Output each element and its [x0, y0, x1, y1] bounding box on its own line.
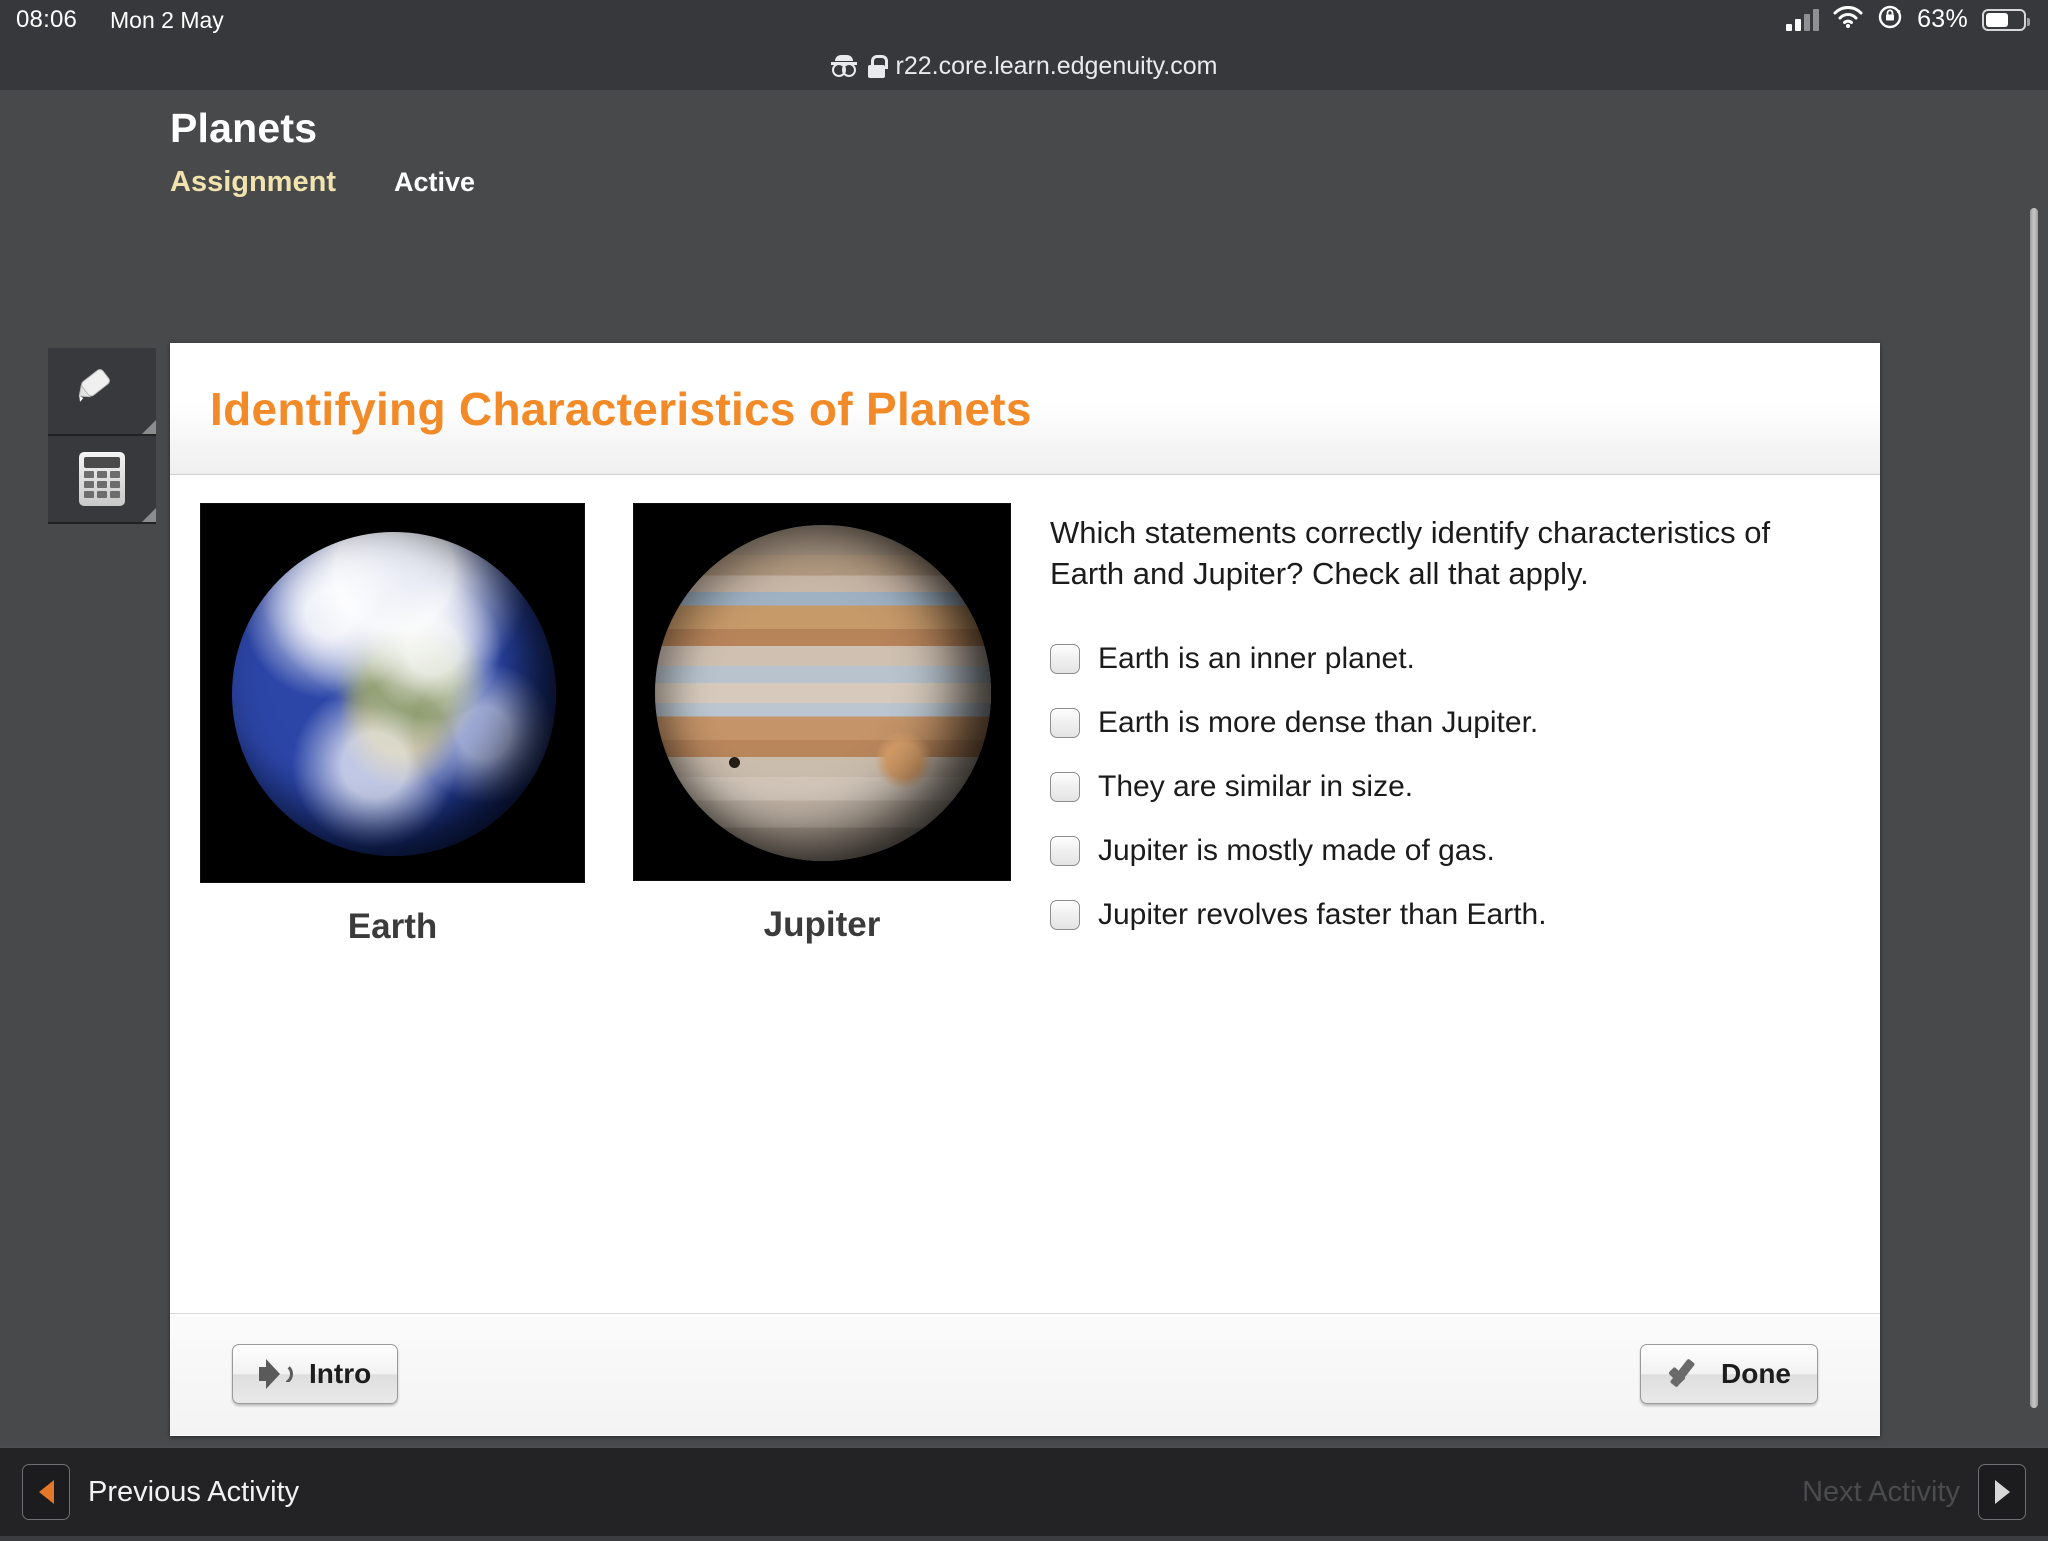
ipad-status-bar: 08:06 Mon 2 May 63%: [0, 0, 2048, 42]
option-label: Jupiter revolves faster than Earth.: [1098, 898, 1547, 932]
question-text: Which statements correctly identify char…: [1050, 513, 1830, 595]
url-text: r22.core.learn.edgenuity.com: [896, 52, 1218, 81]
speaker-icon: [259, 1359, 293, 1389]
status-date: Mon 2 May: [110, 7, 224, 34]
jupiter-planet-image: [633, 503, 1011, 881]
previous-activity-button[interactable]: Previous Activity: [22, 1464, 299, 1520]
planet-figures: Earth Jupiter: [200, 503, 1011, 947]
activity-card-footer: Intro Done: [170, 1313, 1880, 1435]
figure-jupiter: Jupiter: [633, 503, 1011, 947]
assignment-status-label: Active: [394, 167, 475, 198]
checkbox-icon[interactable]: [1050, 836, 1080, 866]
option-row[interactable]: Jupiter revolves faster than Earth.: [1050, 883, 1830, 947]
option-label: Earth is more dense than Jupiter.: [1098, 706, 1538, 740]
option-label: They are similar in size.: [1098, 770, 1413, 804]
next-activity-icon-box: [1978, 1464, 2026, 1520]
status-time: 08:06: [16, 6, 77, 34]
figure-earth: Earth: [200, 503, 585, 947]
page-scrollbar[interactable]: [2030, 208, 2038, 1408]
cellular-signal-icon: [1786, 9, 1819, 31]
tool-rail: [48, 348, 156, 524]
rotation-lock-icon: [1877, 4, 1903, 35]
lock-icon: [868, 55, 885, 78]
option-row[interactable]: Earth is more dense than Jupiter.: [1050, 691, 1830, 755]
question-panel: Which statements correctly identify char…: [1050, 513, 1830, 947]
option-label: Jupiter is mostly made of gas.: [1098, 834, 1495, 868]
triangle-right-icon: [1995, 1480, 2010, 1504]
checkbox-icon[interactable]: [1050, 644, 1080, 674]
checkmark-icon: [1667, 1359, 1705, 1389]
private-browsing-icon: [831, 55, 857, 77]
battery-icon: [1982, 9, 2026, 31]
calculator-tool[interactable]: [48, 436, 156, 524]
triangle-left-icon: [39, 1480, 54, 1504]
activity-navigation-bar: Previous Activity Next Activity: [0, 1446, 2048, 1536]
activity-title: Identifying Characteristics of Planets: [210, 382, 1032, 436]
option-row[interactable]: They are similar in size.: [1050, 755, 1830, 819]
done-button-label: Done: [1721, 1358, 1791, 1390]
option-label: Earth is an inner planet.: [1098, 642, 1415, 676]
checkbox-icon[interactable]: [1050, 708, 1080, 738]
status-indicators: 63%: [1786, 4, 2026, 35]
highlighter-tool[interactable]: [48, 348, 156, 436]
assignment-type-label: Assignment: [170, 166, 336, 199]
assignment-meta: Assignment Active: [170, 166, 475, 199]
intro-button[interactable]: Intro: [232, 1344, 398, 1404]
answer-options: Earth is an inner planet. Earth is more …: [1050, 627, 1830, 947]
activity-card-body: Earth Jupiter Which statements correctly…: [170, 475, 1880, 1313]
browser-url-bar[interactable]: r22.core.learn.edgenuity.com: [0, 42, 2048, 90]
page-content: Planets Assignment Active: [0, 90, 2048, 1536]
option-row[interactable]: Earth is an inner planet.: [1050, 627, 1830, 691]
intro-button-label: Intro: [309, 1358, 371, 1390]
figure-label: Jupiter: [633, 905, 1011, 945]
checkbox-icon[interactable]: [1050, 900, 1080, 930]
activity-card-header: Identifying Characteristics of Planets: [170, 343, 1880, 475]
option-row[interactable]: Jupiter is mostly made of gas.: [1050, 819, 1830, 883]
next-activity-button[interactable]: Next Activity: [1802, 1464, 2026, 1520]
previous-activity-label: Previous Activity: [88, 1476, 299, 1509]
next-activity-label: Next Activity: [1802, 1476, 1960, 1509]
assignment-header: Planets Assignment Active: [170, 105, 475, 199]
pencil-icon: [75, 364, 129, 418]
page-title: Planets: [170, 105, 475, 152]
activity-card: Identifying Characteristics of Planets E…: [170, 343, 1880, 1436]
done-button[interactable]: Done: [1640, 1344, 1818, 1404]
wifi-icon: [1833, 6, 1863, 33]
earth-planet-image: [200, 503, 585, 883]
figure-label: Earth: [200, 907, 585, 947]
battery-percent: 63%: [1917, 5, 1968, 34]
checkbox-icon[interactable]: [1050, 772, 1080, 802]
calculator-icon: [79, 452, 125, 506]
previous-activity-icon-box: [22, 1464, 70, 1520]
